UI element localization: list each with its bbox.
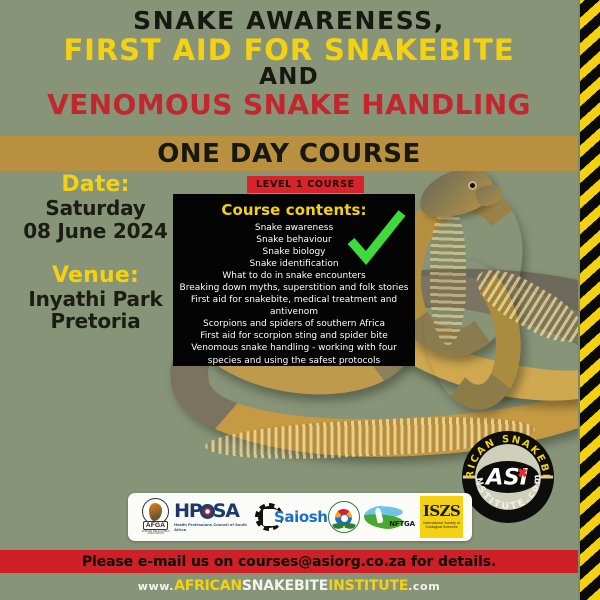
venue-value-place: Inyathi Park [8,288,183,311]
hazard-stripe-decoration [578,0,600,600]
website-part-snakebite: SNAKEBITE [242,578,328,594]
hpcsa-subtitle: Health Professions Council of South Afri… [174,522,258,532]
date-value-date: 08 June 2024 [8,220,183,243]
iszs-subtitle: International Society of Zoological Scie… [420,521,463,530]
leaf-left-icon [332,522,343,531]
title-line-2: FIRST AID FOR SNAKEBITE [0,36,578,66]
leaf-right-icon [344,522,355,531]
website-part-african: AFRICAN [174,578,242,594]
nftga-figure-icon [374,508,383,524]
date-label: Date: [8,172,183,197]
course-contents-list: Snake awarenessSnake behaviourSnake biol… [177,222,411,366]
event-details-block: Date: Saturday 08 June 2024 Venue: Inyat… [8,172,183,333]
saiosh-wordmark: Saiosh [274,508,328,526]
logo-hpcsa[interactable]: HP SA Health Professions Council of Sout… [174,496,258,538]
asi-logo[interactable]: AFRICAN SNAKEBITE INSTITUTE.com ASI [461,430,555,524]
accreditation-logo-strip: AFGA AFRICAN FIELD GUIDES ASSOCIATION HP… [128,493,472,541]
date-group: Date: Saturday 08 June 2024 [8,172,183,243]
title-line-4: VENOMOUS SNAKE HANDLING [0,91,578,120]
website-suffix: .com [408,580,440,593]
asi-logo-red-cross-icon [519,469,526,476]
iszs-wordmark: ISZS [423,504,460,519]
venue-label: Venue: [8,263,183,288]
course-contents-box: Course contents: Snake awarenessSnake be… [173,194,415,366]
course-content-item: Venomous snake handling - working with f… [177,342,411,366]
venue-value-city: Pretoria [8,310,183,333]
poster-title-block: SNAKE AWARENESS, FIRST AID FOR SNAKEBITE… [0,8,578,119]
email-contact-bar: Please e-mail us on courses@asiorg.co.za… [0,550,578,573]
asi-logo-monogram: ASI [484,465,528,491]
seal-emblem-icon [328,501,360,533]
course-content-item: Scorpions and spiders of southern Africa [177,318,411,330]
hpcsa-letters-hp: HP [174,502,202,521]
afga-wordmark: AFGA [143,521,168,530]
nftga-swoosh-icon: NFTGA [364,505,416,529]
logo-seal[interactable] [328,496,360,538]
email-contact-text[interactable]: Please e-mail us on courses@asiorg.co.za… [82,554,496,570]
logo-afga[interactable]: AFGA AFRICAN FIELD GUIDES ASSOCIATION [137,496,174,538]
course-content-item: Breaking down myths, superstition and fo… [177,282,411,294]
afga-subtitle: AFRICAN FIELD GUIDES ASSOCIATION [137,531,174,536]
course-content-item: Snake awareness [177,222,411,234]
hpcsa-wordmark: HP SA [174,502,239,521]
website-footer[interactable]: www.AFRICANSNAKEBITEINSTITUTE.com [0,578,578,594]
course-content-item: First aid for scorpion sting and spider … [177,330,411,342]
venue-group: Venue: Inyathi Park Pretoria [8,263,183,334]
course-content-item: First aid for snakebite, medical treatme… [177,294,411,318]
course-content-item: What to do in snake encounters [177,270,411,282]
nftga-wordmark: NFTGA [389,520,415,528]
title-line-1: SNAKE AWARENESS, [0,8,578,34]
website-prefix: www. [138,580,174,593]
hpcsa-letters-sa: SA [213,502,239,521]
poster-canvas: SNAKE AWARENESS, FIRST AID FOR SNAKEBITE… [0,0,600,600]
website-part-institute: INSTITUTE [328,578,408,594]
course-content-item: Snake behaviour [177,234,411,246]
one-day-course-label: ONE DAY COURSE [157,139,421,169]
course-content-item: Snake biology [177,246,411,258]
title-line-3: AND [0,66,578,89]
snake-belly-scales-throat [430,205,466,345]
course-content-item: Snake identification [177,258,411,270]
logo-iszs[interactable]: ISZS International Society of Zoological… [420,496,463,538]
date-value-day: Saturday [8,197,183,220]
africa-map-icon [149,503,162,521]
logo-nftga[interactable]: NFTGA [360,496,420,538]
logo-saiosh[interactable]: Saiosh [258,496,328,538]
one-day-course-banner: ONE DAY COURSE [0,136,578,171]
level-badge: LEVEL 1 COURSE [247,176,364,193]
